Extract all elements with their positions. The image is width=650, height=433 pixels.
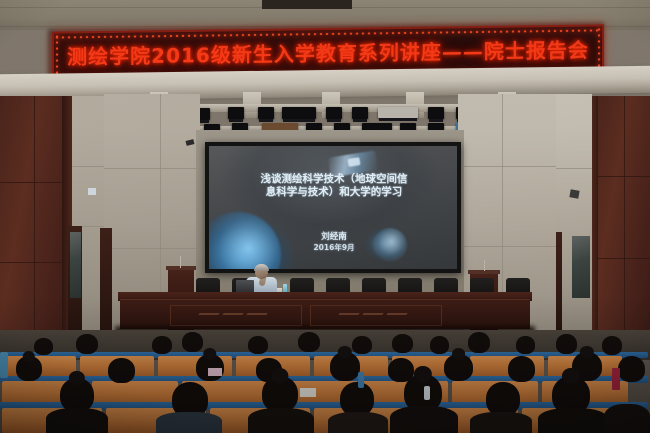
red-folder [612,368,620,390]
left-door-glass [70,232,81,298]
stage-light [258,107,274,119]
audience-head [182,332,203,352]
audience-head [602,336,622,355]
audience-shoulders [604,404,650,433]
slide-author: 刘经南 [269,230,399,242]
audience-head [60,378,94,412]
stage-light [282,107,316,119]
audience-head [340,382,374,416]
audience-head [516,336,535,354]
wall-speaker-right [569,189,579,198]
slide-title-line1: 浅谈测绘科学技术（地球空间信 [233,173,435,186]
stone-seam [104,168,200,169]
audience-head [330,352,360,381]
audience-head [468,332,490,353]
lecture-hall-photo: 测绘学院2016级新生入学教育系列讲座——院士报告会 [0,0,650,433]
audience-shoulders [470,412,532,433]
slide-date: 2016年9月 [269,242,399,253]
stone-seam [458,166,556,167]
audience-head [392,334,413,353]
right-wall-wood-panel [596,96,650,346]
ceiling-vent [262,0,352,9]
water-bottle [424,386,430,400]
audience-shoulders [46,408,108,433]
audience-head [508,356,535,382]
table-panel [170,305,302,326]
audience-head [444,354,473,381]
audience-head [430,336,449,354]
audience-head [248,336,268,354]
wall-speaker-left [88,188,96,195]
stage-light [428,107,444,119]
audience-head [262,376,298,412]
audience-shoulders [390,406,458,433]
stage-light [228,107,244,119]
projection-screen: 浅谈测绘科学技术（地球空间信 息科学与技术）和大学的学习 刘经南 2016年9月 [209,146,457,269]
stone-seam [556,168,592,169]
wood-panel-seam [596,258,650,259]
stone-seam [458,246,556,247]
podium-left-top [166,266,196,270]
wood-panel-seam [34,96,35,346]
paper-sheet [208,368,222,376]
slide-title-line2: 息科学与技术）和大学的学习 [233,186,435,199]
slide-title: 浅谈测绘科学技术（地球空间信 息科学与技术）和大学的学习 [233,173,435,199]
stage-light [352,107,368,119]
stone-seam [104,248,200,249]
right-door-glass [572,236,590,298]
water-bottle [358,372,364,388]
audience-shoulders [248,408,314,433]
audience-head [618,356,645,382]
audience-head [16,356,42,381]
audience-head [352,336,372,354]
audience-head [152,336,172,354]
paper-sheet [300,388,316,397]
led-banner-text: 测绘学院2016级新生入学教育系列讲座——院士报告会 [54,34,602,70]
audience-shoulders [328,412,388,433]
speaker-hair [254,264,269,271]
left-inner-doorway[interactable] [100,228,112,346]
wood-panel-seam [596,176,650,177]
audience-head [34,338,53,355]
table-panel [310,305,442,326]
audience-head [298,332,320,352]
audience-head [108,358,135,383]
audience-head [486,382,520,416]
wood-panel-seam [624,96,625,346]
audience-shoulders [156,412,222,433]
stage-light-housing [378,107,418,118]
podium-right-microphone [484,260,485,271]
audience-head [556,334,577,354]
stage-light [326,107,342,119]
podium-left-microphone [180,256,181,268]
water-bottle-aisle [0,352,8,378]
audience-head [76,334,98,354]
audience-shoulders [538,408,608,433]
